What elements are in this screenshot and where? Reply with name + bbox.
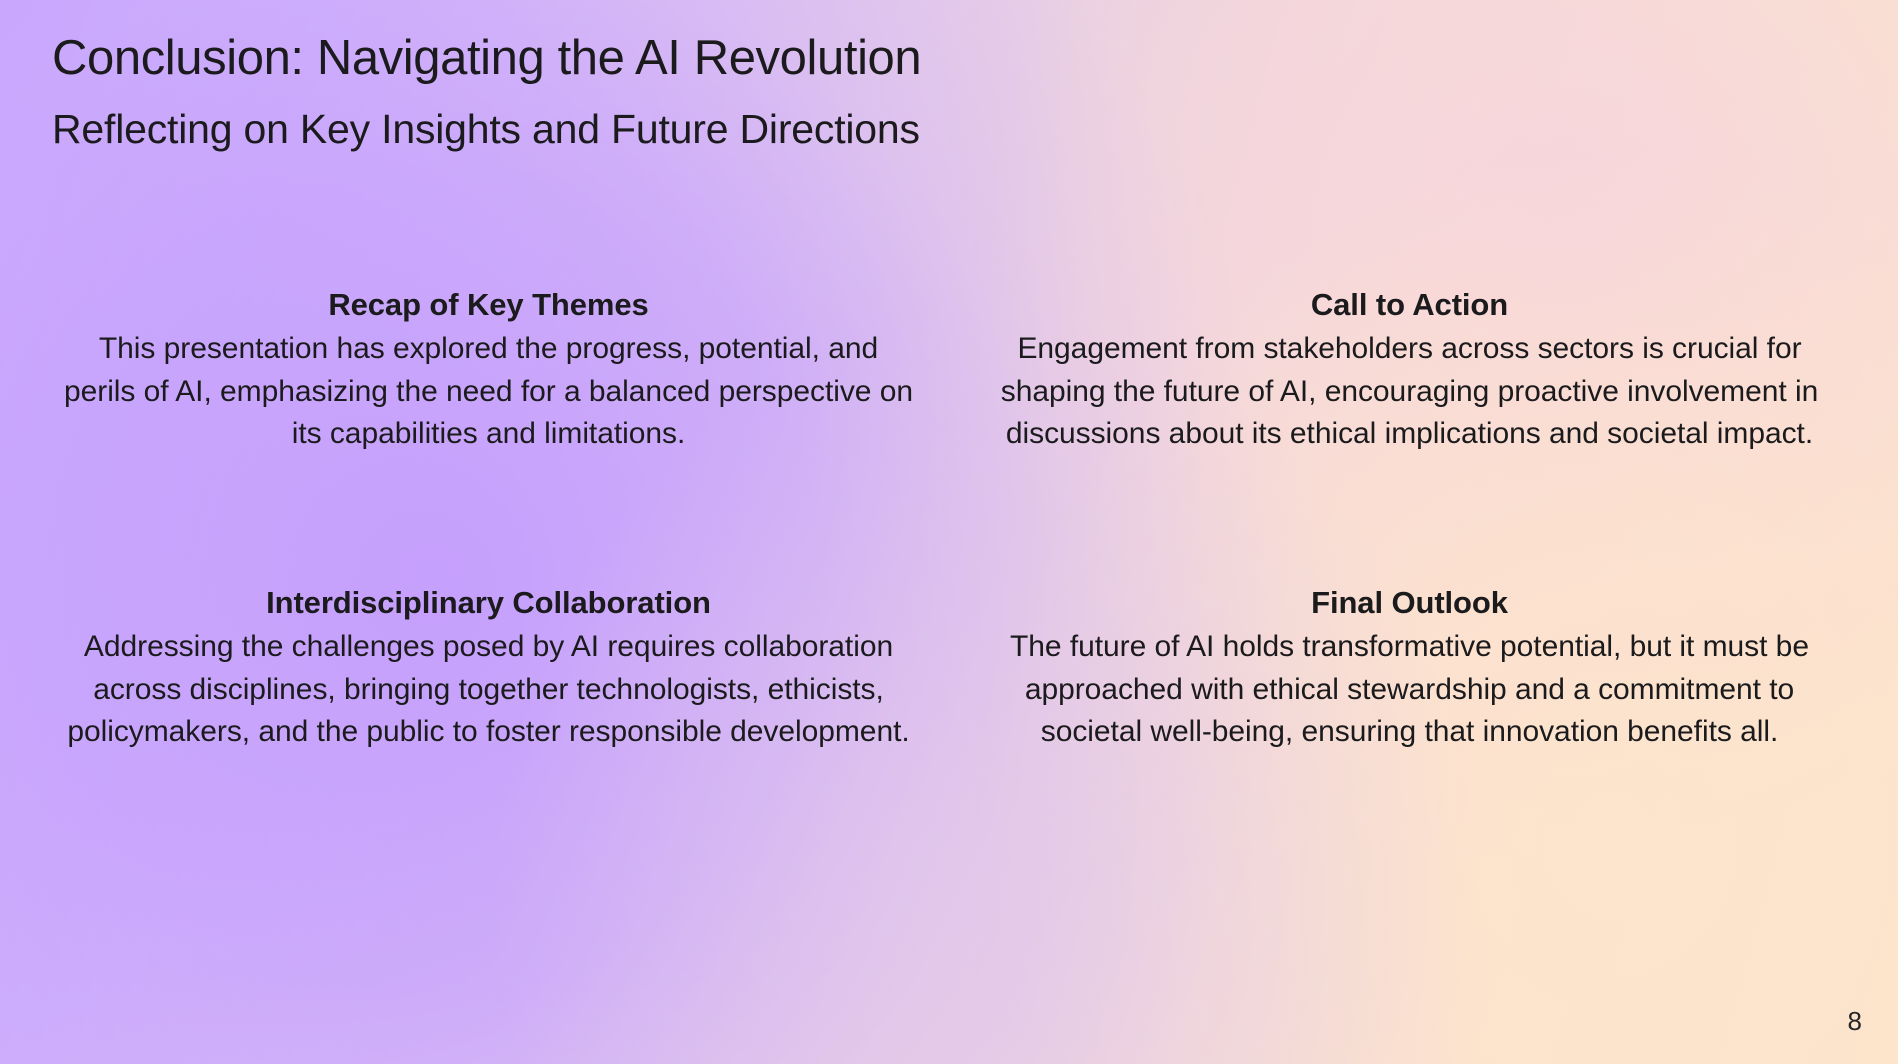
slide-title: Conclusion: Navigating the AI Revolution	[52, 30, 921, 88]
slide-subtitle: Reflecting on Key Insights and Future Di…	[52, 105, 920, 154]
presentation-slide: Conclusion: Navigating the AI Revolution…	[0, 0, 1898, 1064]
block-body: The future of AI holds transformative po…	[973, 626, 1846, 754]
content-block-final-outlook: Final Outlook The future of AI holds tra…	[973, 584, 1846, 754]
block-body: This presentation has explored the progr…	[60, 328, 918, 456]
content-blocks-grid: Recap of Key Themes This presentation ha…	[0, 286, 1898, 754]
block-heading: Call to Action	[973, 286, 1846, 323]
page-number: 8	[1848, 1008, 1862, 1034]
content-block-call-to-action: Call to Action Engagement from stakehold…	[973, 286, 1846, 456]
block-heading: Final Outlook	[973, 584, 1846, 621]
block-heading: Interdisciplinary Collaboration	[52, 584, 925, 621]
block-body: Addressing the challenges posed by AI re…	[60, 626, 918, 754]
content-block-interdisciplinary-collaboration: Interdisciplinary Collaboration Addressi…	[52, 584, 925, 754]
block-body: Engagement from stakeholders across sect…	[973, 328, 1846, 456]
block-heading: Recap of Key Themes	[52, 286, 925, 323]
content-block-recap-of-key-themes: Recap of Key Themes This presentation ha…	[52, 286, 925, 456]
slide-content: Conclusion: Navigating the AI Revolution…	[0, 0, 1898, 1064]
